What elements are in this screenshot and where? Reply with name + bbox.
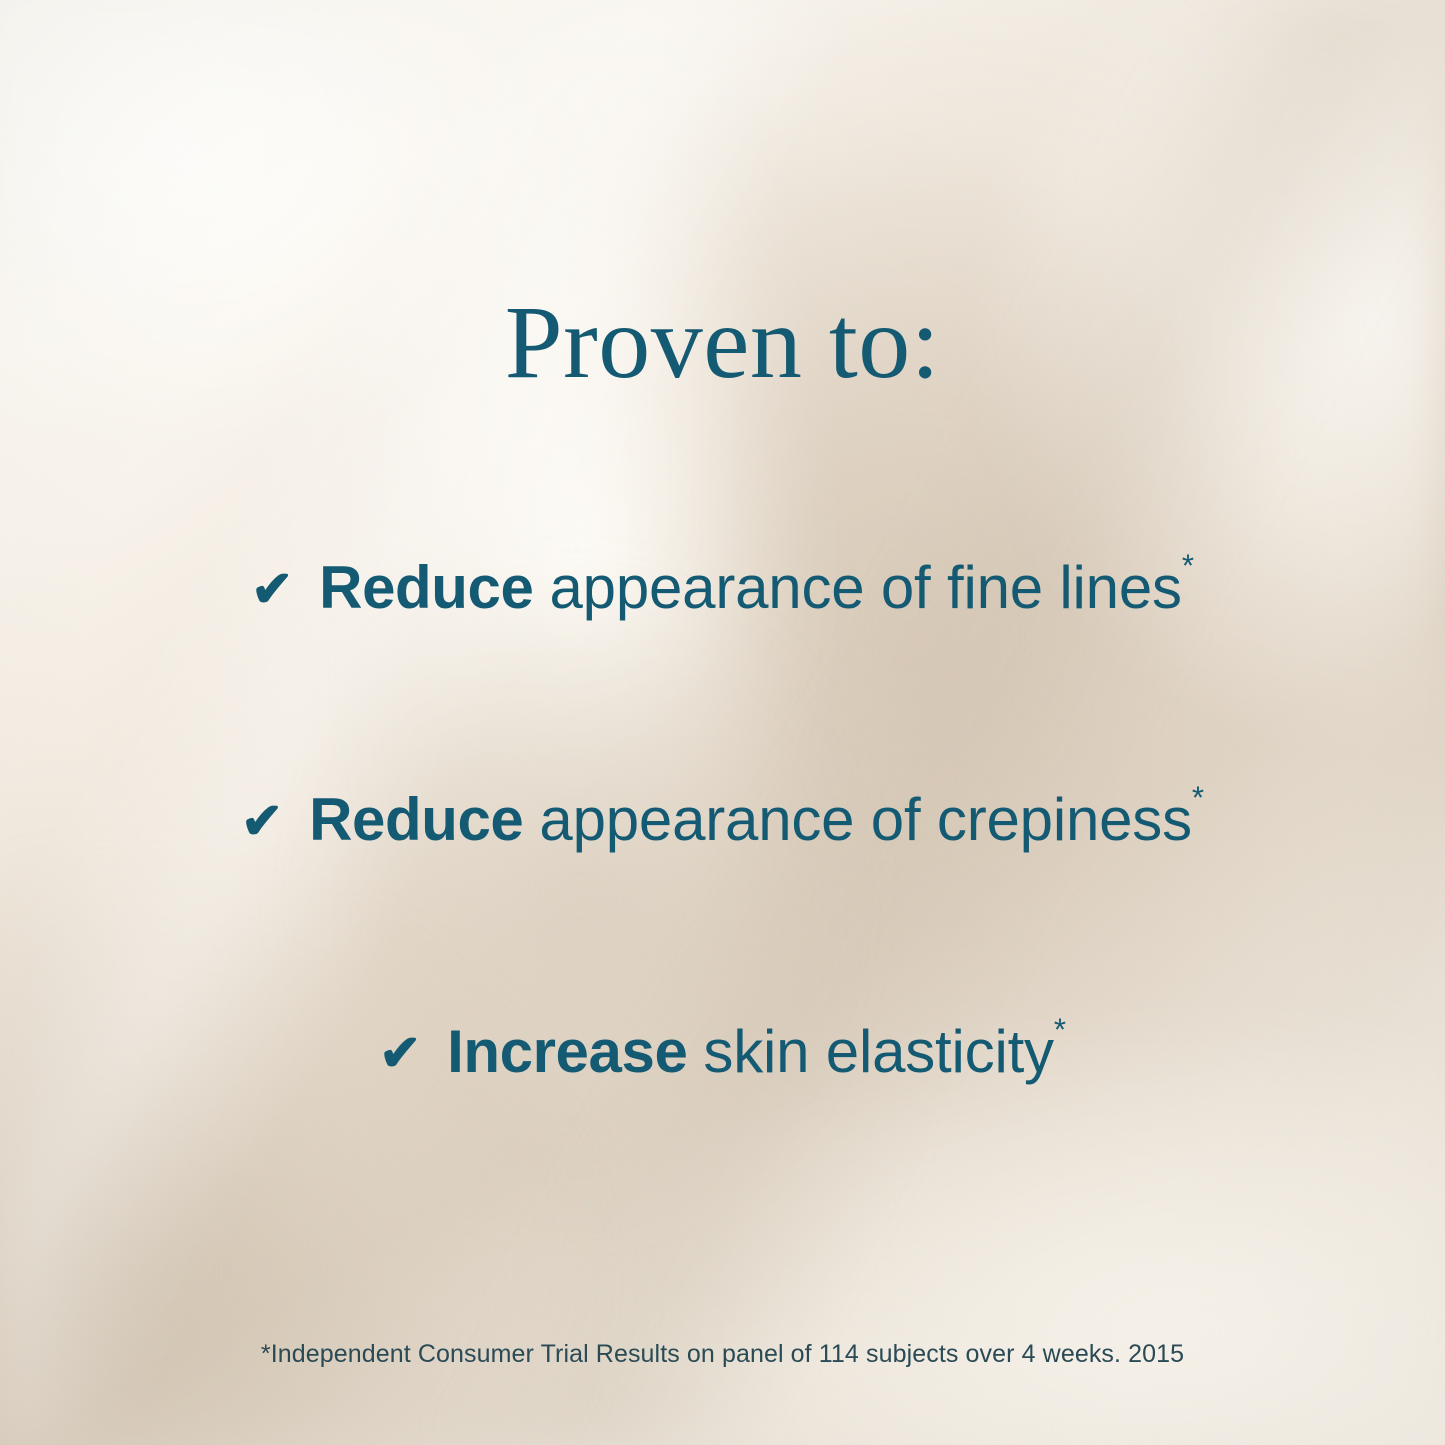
benefit-description-text: skin elasticity bbox=[703, 1018, 1053, 1085]
footnote-marker: * bbox=[1182, 548, 1194, 583]
footnote-marker: * bbox=[1054, 1012, 1066, 1047]
trial-disclaimer: *Independent Consumer Trial Results on p… bbox=[0, 1340, 1445, 1369]
promo-image-canvas: Proven to: ✔ Reduce appearance of fine l… bbox=[0, 0, 1445, 1445]
list-item: ✔ Reduce appearance of fine lines* bbox=[0, 558, 1445, 618]
benefit-action: Reduce bbox=[309, 790, 523, 850]
benefit-description-text: appearance of crepiness bbox=[539, 786, 1192, 853]
checkmark-icon: ✔ bbox=[251, 564, 293, 614]
benefit-description-text: appearance of fine lines bbox=[549, 554, 1181, 621]
checkmark-icon: ✔ bbox=[379, 1028, 421, 1078]
benefit-action: Increase bbox=[447, 1022, 687, 1082]
benefits-list: ✔ Reduce appearance of fine lines* ✔ Red… bbox=[0, 530, 1445, 1082]
benefit-description: appearance of crepiness* bbox=[539, 790, 1203, 850]
content-overlay: Proven to: ✔ Reduce appearance of fine l… bbox=[0, 0, 1445, 1445]
benefit-description: skin elasticity* bbox=[703, 1022, 1065, 1082]
list-item: ✔ Reduce appearance of crepiness* bbox=[0, 790, 1445, 850]
page-title: Proven to: bbox=[0, 288, 1445, 397]
benefit-description: appearance of fine lines* bbox=[549, 558, 1193, 618]
footnote-marker: * bbox=[1192, 780, 1204, 815]
list-item: ✔ Increase skin elasticity* bbox=[0, 1022, 1445, 1082]
benefit-action: Reduce bbox=[319, 558, 533, 618]
checkmark-icon: ✔ bbox=[241, 796, 283, 846]
